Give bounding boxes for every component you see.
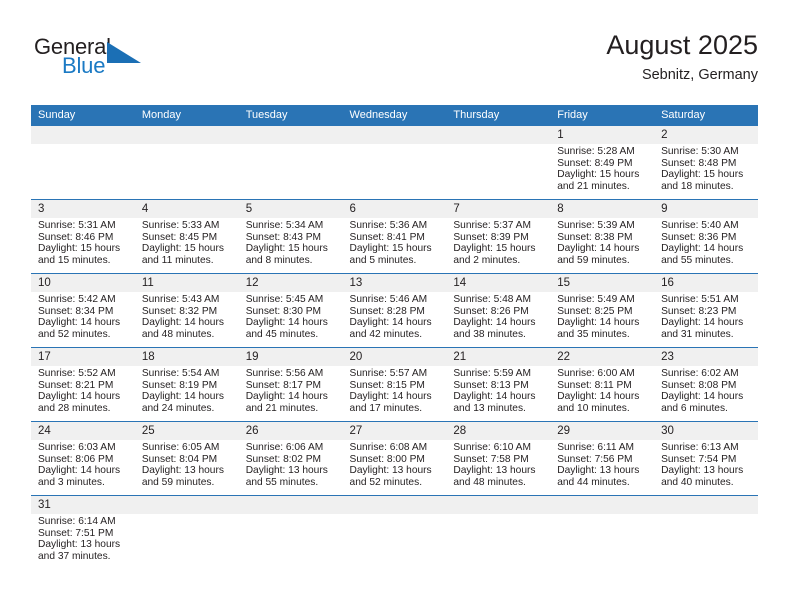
calendar-day-cell[interactable]: 28Sunrise: 6:10 AMSunset: 7:58 PMDayligh… [446, 422, 550, 496]
day-sun-info-line: Sunrise: 5:37 AM [453, 220, 544, 232]
day-sun-info-line: and 48 minutes. [142, 329, 233, 341]
day-number: 16 [654, 274, 758, 292]
day-sun-info-line: Daylight: 14 hours [142, 317, 233, 329]
day-number: 8 [550, 200, 654, 218]
day-sun-info: Sunrise: 5:43 AMSunset: 8:32 PMDaylight:… [135, 292, 239, 341]
day-number: 11 [135, 274, 239, 292]
calendar-day-cell[interactable]: 2Sunrise: 5:30 AMSunset: 8:48 PMDaylight… [654, 126, 758, 200]
day-sun-info-line: Sunrise: 5:51 AM [661, 294, 752, 306]
day-sun-info-line: Sunrise: 5:57 AM [350, 368, 441, 380]
calendar-cell-empty [550, 496, 654, 570]
calendar-day-cell[interactable]: 26Sunrise: 6:06 AMSunset: 8:02 PMDayligh… [239, 422, 343, 496]
day-number: 31 [31, 496, 135, 514]
day-sun-info-line: Daylight: 14 hours [246, 317, 337, 329]
calendar-day-cell[interactable]: 10Sunrise: 5:42 AMSunset: 8:34 PMDayligh… [31, 274, 135, 348]
day-sun-info-line: Daylight: 13 hours [142, 465, 233, 477]
day-number [31, 126, 135, 144]
day-number: 4 [135, 200, 239, 218]
day-number [446, 496, 550, 514]
day-sun-info: Sunrise: 5:30 AMSunset: 8:48 PMDaylight:… [654, 144, 758, 193]
day-sun-info-line: and 42 minutes. [350, 329, 441, 341]
calendar-day-cell[interactable]: 23Sunrise: 6:02 AMSunset: 8:08 PMDayligh… [654, 348, 758, 422]
calendar-week-row: 3Sunrise: 5:31 AMSunset: 8:46 PMDaylight… [31, 200, 758, 274]
day-sun-info-line: Daylight: 14 hours [453, 317, 544, 329]
day-sun-info: Sunrise: 5:45 AMSunset: 8:30 PMDaylight:… [239, 292, 343, 341]
day-sun-info-line: Sunset: 8:28 PM [350, 306, 441, 318]
calendar-week-row: 17Sunrise: 5:52 AMSunset: 8:21 PMDayligh… [31, 348, 758, 422]
calendar-page: General Blue August 2025 Sebnitz, German… [0, 0, 792, 612]
day-sun-info-line: Sunrise: 5:52 AM [38, 368, 129, 380]
calendar-cell-empty [135, 496, 239, 570]
day-sun-info-line: Daylight: 13 hours [661, 465, 752, 477]
day-sun-info-line: Daylight: 14 hours [142, 391, 233, 403]
day-number [343, 126, 447, 144]
day-sun-info-line: Sunrise: 6:13 AM [661, 442, 752, 454]
day-sun-info-line: Daylight: 14 hours [350, 317, 441, 329]
day-number [343, 496, 447, 514]
day-sun-info: Sunrise: 5:57 AMSunset: 8:15 PMDaylight:… [343, 366, 447, 415]
day-sun-info: Sunrise: 5:52 AMSunset: 8:21 PMDaylight:… [31, 366, 135, 415]
day-number: 1 [550, 126, 654, 144]
weekday-header-sunday: Sunday [31, 105, 135, 126]
day-sun-info-line: Daylight: 14 hours [661, 391, 752, 403]
calendar-day-cell[interactable]: 4Sunrise: 5:33 AMSunset: 8:45 PMDaylight… [135, 200, 239, 274]
day-number: 20 [343, 348, 447, 366]
day-sun-info: Sunrise: 5:36 AMSunset: 8:41 PMDaylight:… [343, 218, 447, 267]
day-sun-info-line: Sunset: 8:26 PM [453, 306, 544, 318]
day-sun-info: Sunrise: 6:11 AMSunset: 7:56 PMDaylight:… [550, 440, 654, 489]
calendar-day-cell[interactable]: 24Sunrise: 6:03 AMSunset: 8:06 PMDayligh… [31, 422, 135, 496]
day-sun-info-line: Sunset: 8:08 PM [661, 380, 752, 392]
day-number: 15 [550, 274, 654, 292]
day-sun-info-line: Sunset: 8:38 PM [557, 232, 648, 244]
day-sun-info-line: and 11 minutes. [142, 255, 233, 267]
day-sun-info: Sunrise: 5:39 AMSunset: 8:38 PMDaylight:… [550, 218, 654, 267]
day-sun-info-line: Daylight: 13 hours [38, 539, 129, 551]
day-sun-info-line: and 31 minutes. [661, 329, 752, 341]
day-sun-info: Sunrise: 6:00 AMSunset: 8:11 PMDaylight:… [550, 366, 654, 415]
day-sun-info-line: Sunset: 7:51 PM [38, 528, 129, 540]
calendar-week-row: 10Sunrise: 5:42 AMSunset: 8:34 PMDayligh… [31, 274, 758, 348]
day-sun-info-line: Sunset: 8:11 PM [557, 380, 648, 392]
calendar-day-cell[interactable]: 6Sunrise: 5:36 AMSunset: 8:41 PMDaylight… [343, 200, 447, 274]
day-number: 28 [446, 422, 550, 440]
weekday-header-thursday: Thursday [446, 105, 550, 126]
day-sun-info: Sunrise: 6:06 AMSunset: 8:02 PMDaylight:… [239, 440, 343, 489]
day-sun-info-line: and 10 minutes. [557, 403, 648, 415]
calendar-cell-empty [239, 496, 343, 570]
calendar-day-cell[interactable]: 30Sunrise: 6:13 AMSunset: 7:54 PMDayligh… [654, 422, 758, 496]
day-number: 2 [654, 126, 758, 144]
day-sun-info-line: and 55 minutes. [246, 477, 337, 489]
day-sun-info-line: Daylight: 15 hours [661, 169, 752, 181]
day-sun-info-line: Sunset: 8:49 PM [557, 158, 648, 170]
calendar-header-row: SundayMondayTuesdayWednesdayThursdayFrid… [31, 105, 758, 126]
day-sun-info-line: Sunset: 8:36 PM [661, 232, 752, 244]
day-sun-info-line: Sunrise: 5:36 AM [350, 220, 441, 232]
calendar-table: SundayMondayTuesdayWednesdayThursdayFrid… [31, 105, 758, 569]
calendar-day-cell[interactable]: 3Sunrise: 5:31 AMSunset: 8:46 PMDaylight… [31, 200, 135, 274]
day-number: 26 [239, 422, 343, 440]
weekday-header-saturday: Saturday [654, 105, 758, 126]
day-sun-info-line: Daylight: 14 hours [453, 391, 544, 403]
day-sun-info-line: Sunset: 8:25 PM [557, 306, 648, 318]
day-sun-info: Sunrise: 6:05 AMSunset: 8:04 PMDaylight:… [135, 440, 239, 489]
calendar-cell-empty [446, 496, 550, 570]
day-sun-info-line: Sunrise: 5:56 AM [246, 368, 337, 380]
calendar-week-row: 24Sunrise: 6:03 AMSunset: 8:06 PMDayligh… [31, 422, 758, 496]
day-sun-info-line: Sunrise: 5:40 AM [661, 220, 752, 232]
day-sun-info-line: and 6 minutes. [661, 403, 752, 415]
day-sun-info: Sunrise: 5:46 AMSunset: 8:28 PMDaylight:… [343, 292, 447, 341]
day-sun-info-line: Sunrise: 5:28 AM [557, 146, 648, 158]
day-sun-info-line: Daylight: 14 hours [38, 465, 129, 477]
day-sun-info-line: Daylight: 14 hours [661, 243, 752, 255]
day-sun-info-line: and 3 minutes. [38, 477, 129, 489]
day-sun-info-line: Sunset: 8:19 PM [142, 380, 233, 392]
day-sun-info-line: Daylight: 14 hours [38, 317, 129, 329]
blue-flag-triangle-icon [107, 42, 145, 66]
day-sun-info-line: and 18 minutes. [661, 181, 752, 193]
day-sun-info: Sunrise: 5:51 AMSunset: 8:23 PMDaylight:… [654, 292, 758, 341]
day-sun-info: Sunrise: 5:33 AMSunset: 8:45 PMDaylight:… [135, 218, 239, 267]
day-sun-info-line: Daylight: 13 hours [246, 465, 337, 477]
day-sun-info-line: and 13 minutes. [453, 403, 544, 415]
day-number: 13 [343, 274, 447, 292]
day-sun-info: Sunrise: 6:03 AMSunset: 8:06 PMDaylight:… [31, 440, 135, 489]
calendar-day-cell[interactable]: 20Sunrise: 5:57 AMSunset: 8:15 PMDayligh… [343, 348, 447, 422]
day-sun-info-line: Sunrise: 5:39 AM [557, 220, 648, 232]
day-sun-info-line: Daylight: 14 hours [557, 317, 648, 329]
day-sun-info-line: Sunset: 8:23 PM [661, 306, 752, 318]
calendar-day-cell[interactable]: 17Sunrise: 5:52 AMSunset: 8:21 PMDayligh… [31, 348, 135, 422]
day-sun-info-line: and 2 minutes. [453, 255, 544, 267]
day-sun-info: Sunrise: 5:37 AMSunset: 8:39 PMDaylight:… [446, 218, 550, 267]
page-subtitle: Sebnitz, Germany [606, 64, 758, 86]
day-sun-info: Sunrise: 5:49 AMSunset: 8:25 PMDaylight:… [550, 292, 654, 341]
calendar-day-cell[interactable]: 12Sunrise: 5:45 AMSunset: 8:30 PMDayligh… [239, 274, 343, 348]
calendar-day-cell[interactable]: 16Sunrise: 5:51 AMSunset: 8:23 PMDayligh… [654, 274, 758, 348]
day-sun-info: Sunrise: 5:31 AMSunset: 8:46 PMDaylight:… [31, 218, 135, 267]
day-sun-info-line: and 59 minutes. [557, 255, 648, 267]
day-sun-info-line: Sunrise: 6:10 AM [453, 442, 544, 454]
day-number [135, 496, 239, 514]
day-sun-info-line: and 28 minutes. [38, 403, 129, 415]
calendar-day-cell[interactable]: 14Sunrise: 5:48 AMSunset: 8:26 PMDayligh… [446, 274, 550, 348]
calendar-day-cell[interactable]: 13Sunrise: 5:46 AMSunset: 8:28 PMDayligh… [343, 274, 447, 348]
day-sun-info-line: Sunset: 8:46 PM [38, 232, 129, 244]
day-number: 17 [31, 348, 135, 366]
day-sun-info-line: Daylight: 14 hours [557, 243, 648, 255]
day-sun-info-line: Daylight: 13 hours [557, 465, 648, 477]
weekday-header-tuesday: Tuesday [239, 105, 343, 126]
page-title: August 2025 [606, 28, 758, 62]
day-sun-info: Sunrise: 5:40 AMSunset: 8:36 PMDaylight:… [654, 218, 758, 267]
day-sun-info: Sunrise: 5:28 AMSunset: 8:49 PMDaylight:… [550, 144, 654, 193]
day-number: 12 [239, 274, 343, 292]
day-sun-info: Sunrise: 5:59 AMSunset: 8:13 PMDaylight:… [446, 366, 550, 415]
day-sun-info-line: Sunset: 8:43 PM [246, 232, 337, 244]
day-sun-info-line: and 48 minutes. [453, 477, 544, 489]
day-sun-info-line: Sunset: 8:39 PM [453, 232, 544, 244]
day-sun-info-line: and 52 minutes. [38, 329, 129, 341]
day-sun-info-line: Sunset: 8:17 PM [246, 380, 337, 392]
day-sun-info-line: Sunrise: 5:59 AM [453, 368, 544, 380]
day-number: 10 [31, 274, 135, 292]
day-sun-info-line: Daylight: 14 hours [246, 391, 337, 403]
day-sun-info-line: Sunrise: 6:08 AM [350, 442, 441, 454]
day-number: 29 [550, 422, 654, 440]
logo-text-blue: Blue [62, 53, 105, 79]
day-number: 19 [239, 348, 343, 366]
calendar-week-row: 31Sunrise: 6:14 AMSunset: 7:51 PMDayligh… [31, 496, 758, 570]
day-sun-info-line: Sunset: 8:34 PM [38, 306, 129, 318]
calendar-day-cell[interactable]: 18Sunrise: 5:54 AMSunset: 8:19 PMDayligh… [135, 348, 239, 422]
weekday-header-friday: Friday [550, 105, 654, 126]
day-sun-info-line: and 24 minutes. [142, 403, 233, 415]
day-number [239, 496, 343, 514]
day-number: 7 [446, 200, 550, 218]
calendar-day-cell[interactable]: 8Sunrise: 5:39 AMSunset: 8:38 PMDaylight… [550, 200, 654, 274]
day-sun-info-line: Sunrise: 6:11 AM [557, 442, 648, 454]
calendar-day-cell[interactable]: 25Sunrise: 6:05 AMSunset: 8:04 PMDayligh… [135, 422, 239, 496]
calendar-cell-empty [239, 126, 343, 200]
weekday-header-wednesday: Wednesday [343, 105, 447, 126]
day-sun-info-line: Sunset: 8:02 PM [246, 454, 337, 466]
day-sun-info-line: and 38 minutes. [453, 329, 544, 341]
day-sun-info: Sunrise: 5:54 AMSunset: 8:19 PMDaylight:… [135, 366, 239, 415]
day-sun-info-line: Daylight: 14 hours [350, 391, 441, 403]
calendar-week-row: 1Sunrise: 5:28 AMSunset: 8:49 PMDaylight… [31, 126, 758, 200]
day-number: 9 [654, 200, 758, 218]
day-sun-info-line: Sunset: 8:32 PM [142, 306, 233, 318]
calendar-day-cell[interactable]: 31Sunrise: 6:14 AMSunset: 7:51 PMDayligh… [31, 496, 135, 570]
day-number: 3 [31, 200, 135, 218]
day-sun-info-line: Sunset: 8:06 PM [38, 454, 129, 466]
day-sun-info-line: Sunset: 8:04 PM [142, 454, 233, 466]
calendar-day-cell[interactable]: 11Sunrise: 5:43 AMSunset: 8:32 PMDayligh… [135, 274, 239, 348]
day-sun-info-line: Sunrise: 5:42 AM [38, 294, 129, 306]
day-number: 24 [31, 422, 135, 440]
day-sun-info: Sunrise: 5:48 AMSunset: 8:26 PMDaylight:… [446, 292, 550, 341]
day-sun-info-line: and 44 minutes. [557, 477, 648, 489]
day-sun-info-line: Sunrise: 6:05 AM [142, 442, 233, 454]
day-number [239, 126, 343, 144]
day-sun-info-line: Sunrise: 5:33 AM [142, 220, 233, 232]
day-sun-info-line: and 21 minutes. [557, 181, 648, 193]
day-sun-info-line: Sunrise: 5:48 AM [453, 294, 544, 306]
calendar-cell-empty [31, 126, 135, 200]
day-sun-info-line: Sunset: 8:45 PM [142, 232, 233, 244]
day-sun-info-line: and 52 minutes. [350, 477, 441, 489]
calendar-day-cell[interactable]: 15Sunrise: 5:49 AMSunset: 8:25 PMDayligh… [550, 274, 654, 348]
calendar-cell-empty [343, 496, 447, 570]
day-sun-info-line: and 40 minutes. [661, 477, 752, 489]
day-sun-info-line: Sunset: 8:13 PM [453, 380, 544, 392]
day-sun-info: Sunrise: 5:34 AMSunset: 8:43 PMDaylight:… [239, 218, 343, 267]
day-sun-info-line: and 21 minutes. [246, 403, 337, 415]
calendar-cell-empty [135, 126, 239, 200]
day-sun-info-line: Daylight: 13 hours [453, 465, 544, 477]
day-number [446, 126, 550, 144]
calendar-day-cell[interactable]: 27Sunrise: 6:08 AMSunset: 8:00 PMDayligh… [343, 422, 447, 496]
day-number: 23 [654, 348, 758, 366]
day-sun-info-line: Sunrise: 5:46 AM [350, 294, 441, 306]
day-sun-info-line: Sunrise: 5:34 AM [246, 220, 337, 232]
day-number: 30 [654, 422, 758, 440]
day-sun-info-line: Sunrise: 6:03 AM [38, 442, 129, 454]
calendar-day-cell[interactable]: 9Sunrise: 5:40 AMSunset: 8:36 PMDaylight… [654, 200, 758, 274]
day-sun-info-line: Daylight: 15 hours [142, 243, 233, 255]
day-sun-info-line: and 5 minutes. [350, 255, 441, 267]
day-sun-info-line: Sunset: 8:41 PM [350, 232, 441, 244]
weekday-header-monday: Monday [135, 105, 239, 126]
day-sun-info-line: and 17 minutes. [350, 403, 441, 415]
day-sun-info-line: Sunset: 8:48 PM [661, 158, 752, 170]
day-sun-info-line: and 8 minutes. [246, 255, 337, 267]
day-number: 5 [239, 200, 343, 218]
day-number: 21 [446, 348, 550, 366]
day-sun-info-line: Daylight: 13 hours [350, 465, 441, 477]
day-number [135, 126, 239, 144]
day-sun-info-line: and 15 minutes. [38, 255, 129, 267]
calendar-cell-empty [446, 126, 550, 200]
calendar-body: 1Sunrise: 5:28 AMSunset: 8:49 PMDaylight… [31, 126, 758, 569]
day-sun-info-line: Daylight: 15 hours [350, 243, 441, 255]
day-sun-info-line: Sunrise: 6:02 AM [661, 368, 752, 380]
day-sun-info-line: Sunset: 8:30 PM [246, 306, 337, 318]
day-number: 25 [135, 422, 239, 440]
day-sun-info-line: and 35 minutes. [557, 329, 648, 341]
day-sun-info-line: Sunrise: 5:31 AM [38, 220, 129, 232]
day-sun-info-line: Sunrise: 6:06 AM [246, 442, 337, 454]
day-number: 14 [446, 274, 550, 292]
calendar-cell-empty [343, 126, 447, 200]
day-sun-info-line: Daylight: 15 hours [557, 169, 648, 181]
day-sun-info-line: and 45 minutes. [246, 329, 337, 341]
day-number: 6 [343, 200, 447, 218]
general-blue-logo[interactable]: General Blue [31, 34, 231, 90]
day-sun-info-line: Sunset: 7:58 PM [453, 454, 544, 466]
day-sun-info-line: Daylight: 15 hours [38, 243, 129, 255]
day-sun-info-line: Sunset: 8:15 PM [350, 380, 441, 392]
day-sun-info-line: Sunrise: 5:43 AM [142, 294, 233, 306]
day-number [550, 496, 654, 514]
title-block: August 2025 Sebnitz, Germany [606, 28, 758, 86]
day-sun-info-line: Sunset: 8:00 PM [350, 454, 441, 466]
day-sun-info: Sunrise: 6:13 AMSunset: 7:54 PMDaylight:… [654, 440, 758, 489]
day-sun-info-line: Sunrise: 5:49 AM [557, 294, 648, 306]
calendar-day-cell[interactable]: 7Sunrise: 5:37 AMSunset: 8:39 PMDaylight… [446, 200, 550, 274]
day-sun-info-line: Sunrise: 5:30 AM [661, 146, 752, 158]
day-sun-info-line: Sunrise: 5:45 AM [246, 294, 337, 306]
page-header: General Blue August 2025 Sebnitz, German… [31, 28, 758, 90]
day-sun-info-line: Daylight: 15 hours [246, 243, 337, 255]
calendar-cell-empty [654, 496, 758, 570]
day-sun-info: Sunrise: 5:56 AMSunset: 8:17 PMDaylight:… [239, 366, 343, 415]
day-number [654, 496, 758, 514]
day-sun-info-line: and 37 minutes. [38, 551, 129, 563]
calendar-day-cell[interactable]: 1Sunrise: 5:28 AMSunset: 8:49 PMDaylight… [550, 126, 654, 200]
day-sun-info-line: Daylight: 15 hours [453, 243, 544, 255]
day-sun-info: Sunrise: 6:14 AMSunset: 7:51 PMDaylight:… [31, 514, 135, 563]
calendar-day-cell[interactable]: 21Sunrise: 5:59 AMSunset: 8:13 PMDayligh… [446, 348, 550, 422]
day-sun-info-line: Sunset: 8:21 PM [38, 380, 129, 392]
calendar-day-cell[interactable]: 29Sunrise: 6:11 AMSunset: 7:56 PMDayligh… [550, 422, 654, 496]
day-number: 27 [343, 422, 447, 440]
day-sun-info-line: Daylight: 14 hours [38, 391, 129, 403]
day-sun-info-line: Sunrise: 6:14 AM [38, 516, 129, 528]
day-sun-info: Sunrise: 6:10 AMSunset: 7:58 PMDaylight:… [446, 440, 550, 489]
day-sun-info-line: Sunset: 7:54 PM [661, 454, 752, 466]
day-sun-info-line: Sunrise: 6:00 AM [557, 368, 648, 380]
day-sun-info-line: Sunset: 7:56 PM [557, 454, 648, 466]
calendar-day-cell[interactable]: 5Sunrise: 5:34 AMSunset: 8:43 PMDaylight… [239, 200, 343, 274]
calendar-day-cell[interactable]: 19Sunrise: 5:56 AMSunset: 8:17 PMDayligh… [239, 348, 343, 422]
day-sun-info-line: and 59 minutes. [142, 477, 233, 489]
day-sun-info: Sunrise: 5:42 AMSunset: 8:34 PMDaylight:… [31, 292, 135, 341]
day-sun-info: Sunrise: 6:02 AMSunset: 8:08 PMDaylight:… [654, 366, 758, 415]
calendar-day-cell[interactable]: 22Sunrise: 6:00 AMSunset: 8:11 PMDayligh… [550, 348, 654, 422]
day-number: 18 [135, 348, 239, 366]
day-sun-info-line: Daylight: 14 hours [661, 317, 752, 329]
day-sun-info-line: and 55 minutes. [661, 255, 752, 267]
day-number: 22 [550, 348, 654, 366]
day-sun-info: Sunrise: 6:08 AMSunset: 8:00 PMDaylight:… [343, 440, 447, 489]
day-sun-info-line: Daylight: 14 hours [557, 391, 648, 403]
day-sun-info-line: Sunrise: 5:54 AM [142, 368, 233, 380]
